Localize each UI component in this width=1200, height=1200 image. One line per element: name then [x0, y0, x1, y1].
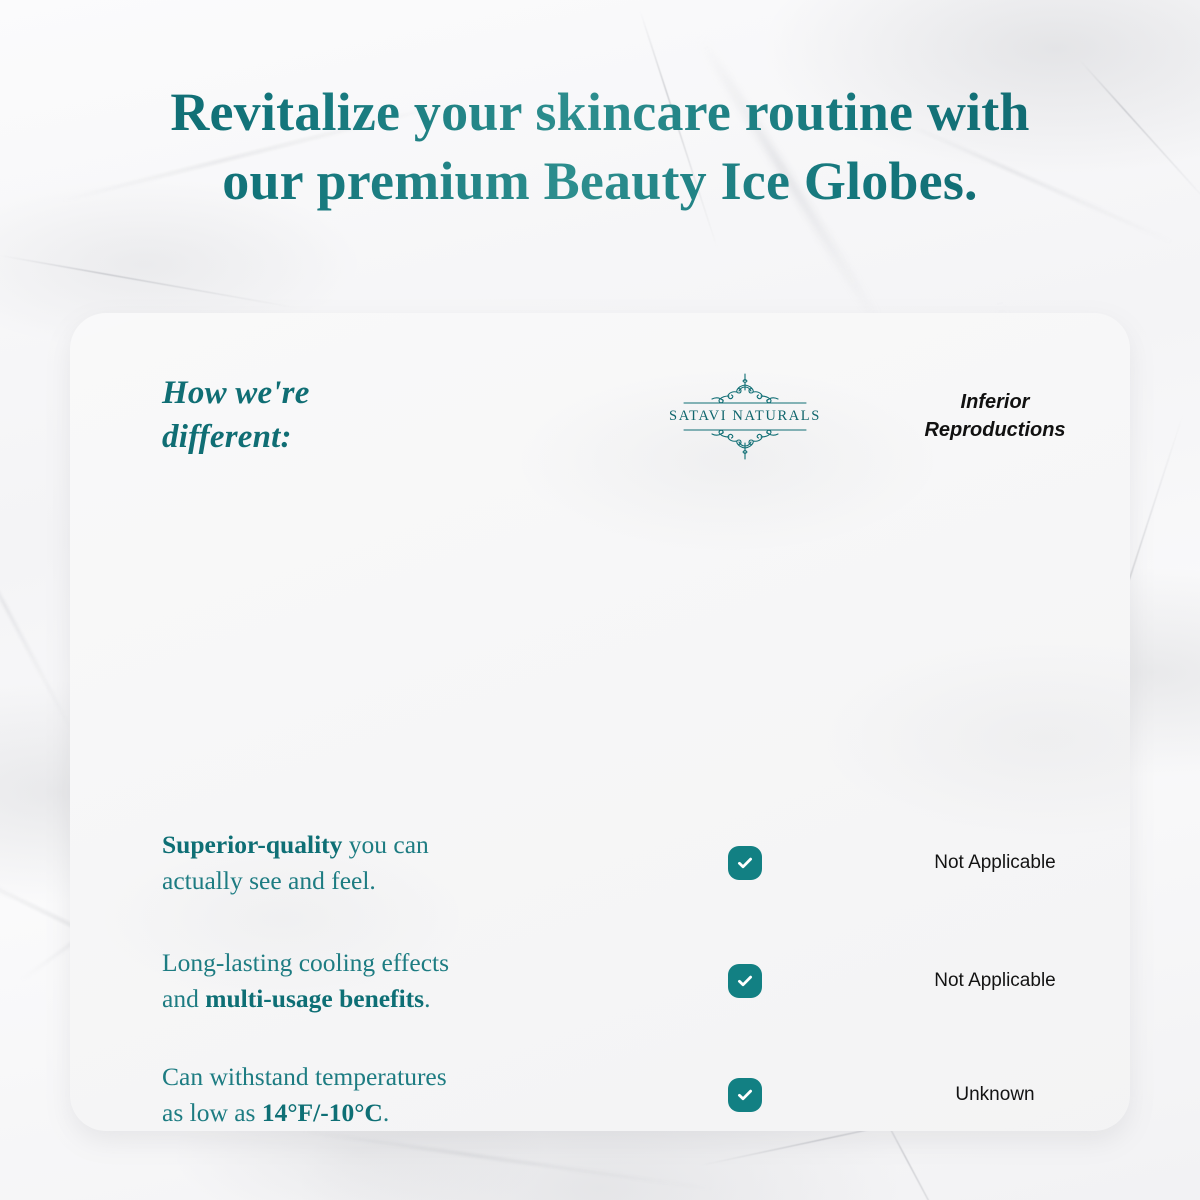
header-cell-feature: How we're different:	[70, 372, 630, 459]
feature-cell: Can withstand temperaturesas low as 14°F…	[70, 1059, 630, 1130]
header-cell-brand: SATAVI NATURALS	[630, 373, 860, 460]
competitor-cell: Not Applicable	[860, 852, 1130, 874]
feature-text: Long-lasting cooling effectsand multi-us…	[162, 945, 630, 1016]
check-icon	[728, 1078, 762, 1112]
check-icon	[728, 964, 762, 998]
check-icon	[728, 846, 762, 880]
marble-vein	[0, 255, 296, 308]
ornament-top-icon	[682, 373, 808, 407]
comparison-card: How we're different:	[70, 313, 1130, 1131]
comparison-title-line-1: How we're	[162, 372, 630, 416]
table-row: Superior-quality you canactually see and…	[70, 815, 1130, 911]
competitor-value: Not Applicable	[934, 852, 1055, 874]
marble-vein	[0, 521, 74, 734]
headline-line-2: our premium Beauty Ice Globes.	[70, 147, 1130, 216]
comparison-title-line-2: different:	[162, 416, 630, 460]
feature-text: Superior-quality you canactually see and…	[162, 827, 630, 898]
brand-logo: SATAVI NATURALS	[645, 373, 845, 460]
competitor-value: Not Applicable	[934, 970, 1055, 992]
competitor-cell: Unknown	[860, 1084, 1130, 1106]
competitor-label-line-2: Reproductions	[924, 416, 1065, 444]
ornament-bottom-icon	[682, 426, 808, 460]
table-row: Can withstand temperaturesas low as 14°F…	[70, 1047, 1130, 1131]
competitor-value: Unknown	[955, 1084, 1034, 1106]
competitor-column-label: Inferior Reproductions	[924, 388, 1065, 445]
competitor-label-line-1: Inferior	[924, 388, 1065, 416]
headline-line-1: Revitalize your skincare routine with	[70, 78, 1130, 147]
feature-text: Can withstand temperaturesas low as 14°F…	[162, 1059, 630, 1130]
competitor-cell: Not Applicable	[860, 970, 1130, 992]
marble-vein	[300, 1130, 716, 1190]
brand-cell	[630, 846, 860, 880]
feature-cell: Superior-quality you canactually see and…	[70, 827, 630, 898]
brand-name: SATAVI NATURALS	[669, 408, 821, 425]
feature-cell: Long-lasting cooling effectsand multi-us…	[70, 945, 630, 1016]
brand-cell	[630, 964, 860, 998]
table-row: Long-lasting cooling effectsand multi-us…	[70, 933, 1130, 1029]
comparison-title: How we're different:	[162, 372, 630, 459]
page-title: Revitalize your skincare routine with ou…	[0, 78, 1200, 216]
comparison-header-row: How we're different:	[70, 361, 1130, 471]
brand-cell	[630, 1078, 860, 1112]
header-cell-competitor: Inferior Reproductions	[860, 388, 1130, 445]
